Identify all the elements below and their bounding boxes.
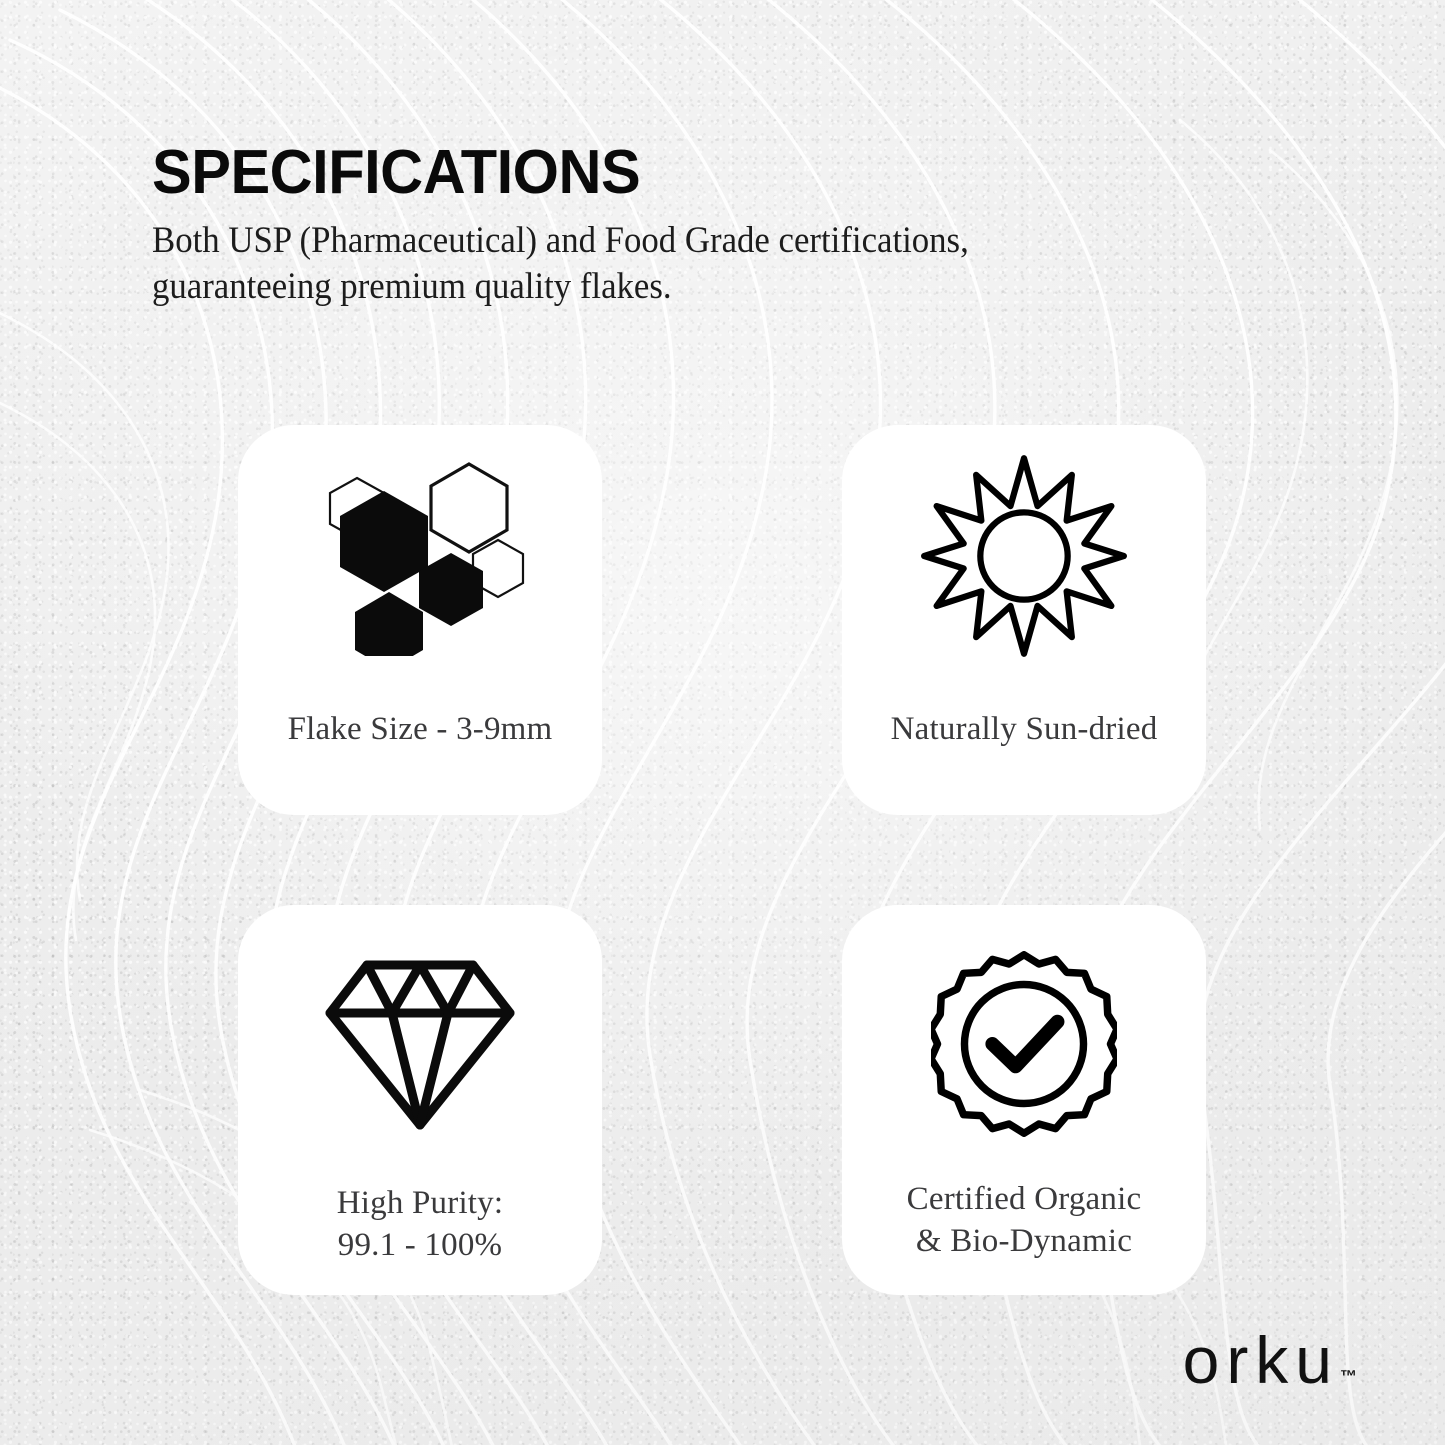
spec-card-high-purity: High Purity: 99.1 - 100%	[238, 905, 602, 1295]
sun-icon	[842, 425, 1206, 687]
spec-card-sun-dried: Naturally Sun-dried	[842, 425, 1206, 815]
spec-card-label: Certified Organic & Bio-Dynamic	[907, 1179, 1142, 1262]
spec-card-flake-size: Flake Size - 3-9mm	[238, 425, 602, 815]
brand-name: orku	[1183, 1327, 1339, 1393]
page-title: SPECIFICATIONS	[152, 142, 1227, 204]
specifications-infographic: SPECIFICATIONS Both USP (Pharmaceutical)…	[0, 0, 1445, 1445]
spec-card-label: High Purity: 99.1 - 100%	[337, 1183, 504, 1266]
spec-card-label: Naturally Sun-dried	[891, 709, 1158, 751]
certified-badge-icon	[842, 905, 1206, 1169]
page-subtitle: Both USP (Pharmaceutical) and Food Grade…	[152, 218, 1205, 310]
specification-card-grid: Flake Size - 3-9mm Naturally Sun-dried	[238, 425, 1206, 1295]
header: SPECIFICATIONS Both USP (Pharmaceutical)…	[152, 142, 1272, 310]
hexagon-flakes-icon	[238, 425, 602, 687]
spec-card-label: Flake Size - 3-9mm	[288, 709, 553, 751]
diamond-icon	[238, 905, 602, 1169]
trademark-symbol: ™	[1340, 1367, 1357, 1387]
spec-card-certified-organic: Certified Organic & Bio-Dynamic	[842, 905, 1206, 1295]
brand-logo: orku ™	[1183, 1327, 1357, 1393]
